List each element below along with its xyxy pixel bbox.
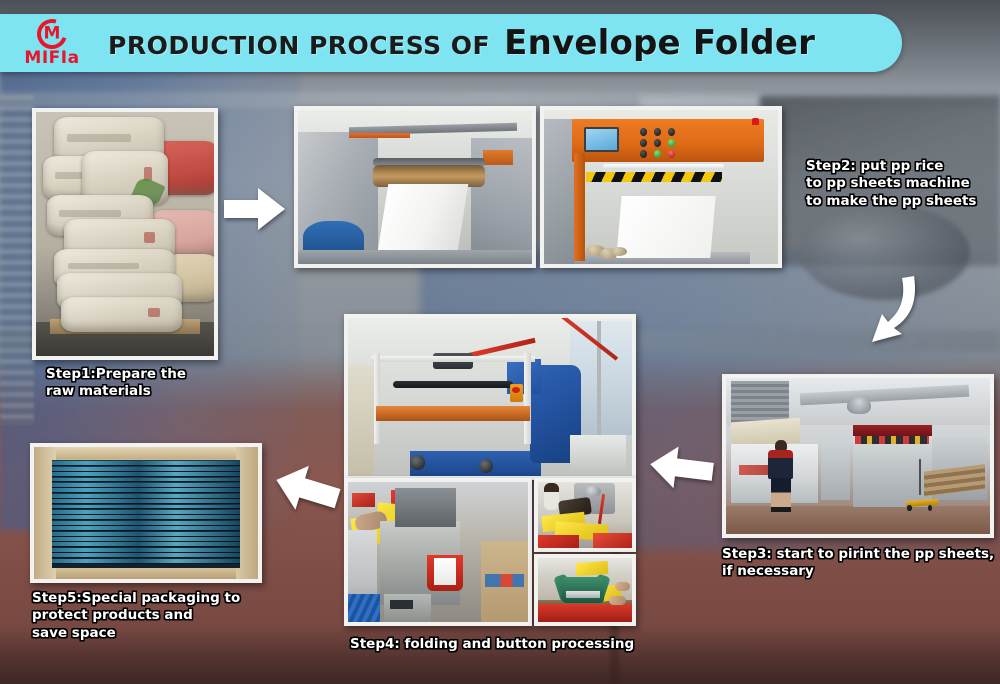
step5-photo-frame[interactable] — [30, 443, 262, 583]
header-title-group: PRODUCTION PROCESS OF Envelope Folder — [108, 23, 815, 63]
photo-pp-sheet-extruder — [298, 110, 532, 264]
curved-arrow-down-icon — [856, 272, 926, 348]
photo-button-rivet-machine — [348, 318, 632, 476]
photo-folding-station-second — [538, 482, 632, 548]
logo-wordmark: MIFIa — [24, 50, 79, 67]
page-title-product: Envelope Folder — [504, 23, 815, 63]
photo-folding-station-worker — [348, 482, 528, 622]
step3-photo-frame[interactable] — [722, 374, 994, 538]
step2-caption: Step2: put pp rice to pp sheets machine … — [806, 158, 996, 210]
step2-photo-frame-b[interactable] — [540, 106, 782, 268]
logo-monogram-icon: M — [37, 19, 67, 49]
step4-photo-frame-main[interactable] — [344, 314, 636, 480]
step3-caption: Step3: start to pirint the pp sheets, if… — [722, 546, 1000, 581]
page-title-prefix: PRODUCTION PROCESS OF — [108, 31, 490, 60]
step1-photo-frame[interactable] — [32, 108, 218, 360]
step4-photo-frame-c[interactable] — [534, 554, 636, 626]
brand-logo[interactable]: M MIFIa — [0, 14, 96, 72]
photo-printing-workshop — [726, 378, 990, 534]
carton-contents — [52, 460, 240, 568]
step2-photo-frame-a[interactable] — [294, 106, 536, 268]
photo-packed-carton-blue-folders — [34, 447, 258, 579]
photo-pp-rice-sacks — [36, 112, 214, 356]
header-bar: M MIFIa PRODUCTION PROCESS OF Envelope F… — [0, 14, 902, 72]
photo-green-riveting-press — [538, 558, 632, 622]
arrow-right-icon — [224, 186, 286, 232]
step1-caption: Step1:Prepare the raw materials — [46, 366, 256, 401]
arrow-left-icon-step3-to-step4 — [648, 444, 714, 492]
photo-sheet-cutter-control-panel — [544, 110, 778, 264]
background-duct — [0, 95, 34, 425]
step5-caption: Step5:Special packaging to protect produ… — [32, 590, 282, 642]
infographic-poster: M MIFIa PRODUCTION PROCESS OF Envelope F… — [0, 0, 1000, 684]
step4-photo-frame-a[interactable] — [344, 478, 532, 626]
step4-caption: Step4: folding and button processing — [350, 636, 680, 653]
step4-photo-frame-b[interactable] — [534, 478, 636, 552]
arrow-left-icon-step4-to-step5 — [272, 462, 340, 516]
